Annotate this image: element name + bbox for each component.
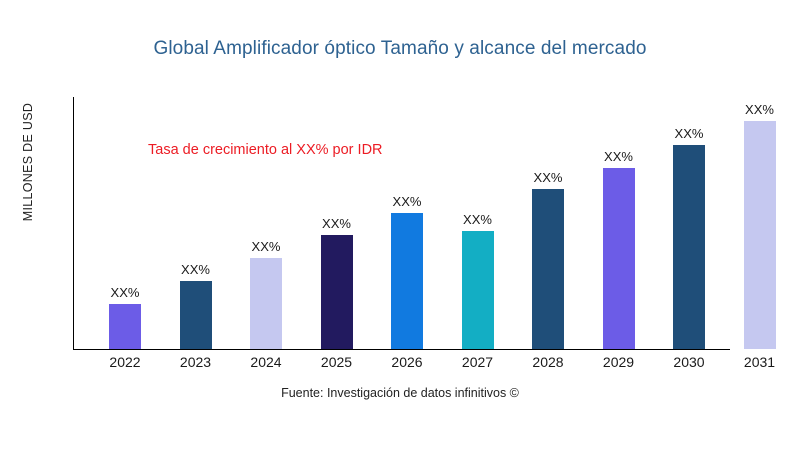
source-note: Fuente: Investigación de datos infinitiv… — [0, 386, 800, 400]
bar-2029[interactable]: XX% — [603, 168, 635, 349]
bar-rect-2025[interactable] — [321, 235, 353, 349]
bar-2024[interactable]: XX% — [250, 258, 282, 349]
x-tick-label-2028: 2028 — [508, 354, 588, 370]
x-tick-label-2024: 2024 — [226, 354, 306, 370]
bar-2027[interactable]: XX% — [462, 231, 494, 349]
bar-rect-2026[interactable] — [391, 213, 423, 349]
y-axis-line — [73, 97, 74, 350]
x-tick-label-2023: 2023 — [156, 354, 236, 370]
bar-2026[interactable]: XX% — [391, 213, 423, 349]
bar-2025[interactable]: XX% — [321, 235, 353, 349]
bar-2023[interactable]: XX% — [180, 281, 212, 349]
bar-value-label-2028: XX% — [518, 170, 578, 185]
x-tick-label-2025: 2025 — [297, 354, 377, 370]
chart-container: Global Amplificador óptico Tamaño y alca… — [0, 0, 800, 450]
bar-rect-2029[interactable] — [603, 168, 635, 349]
bar-rect-2030[interactable] — [673, 145, 705, 349]
bar-2022[interactable]: XX% — [109, 304, 141, 349]
plot-area: XX%XX%XX%XX%XX%XX%XX%XX%XX%XX% 202220232… — [0, 0, 800, 450]
bar-2030[interactable]: XX% — [673, 145, 705, 349]
bar-value-label-2027: XX% — [448, 212, 508, 227]
x-tick-label-2029: 2029 — [579, 354, 659, 370]
bar-value-label-2026: XX% — [377, 194, 437, 209]
bar-rect-2024[interactable] — [250, 258, 282, 349]
bar-value-label-2029: XX% — [589, 149, 649, 164]
bar-rect-2022[interactable] — [109, 304, 141, 349]
x-tick-label-2026: 2026 — [367, 354, 447, 370]
bar-value-label-2023: XX% — [166, 262, 226, 277]
bar-rect-2023[interactable] — [180, 281, 212, 349]
x-axis-line — [73, 349, 730, 350]
x-tick-label-2031: 2031 — [720, 354, 800, 370]
growth-rate-annotation: Tasa de crecimiento al XX% por IDR — [148, 142, 383, 158]
bar-rect-2028[interactable] — [532, 189, 564, 349]
bar-rect-2027[interactable] — [462, 231, 494, 349]
x-tick-label-2027: 2027 — [438, 354, 518, 370]
bar-2031[interactable]: XX% — [744, 121, 776, 349]
bar-rect-2031[interactable] — [744, 121, 776, 349]
bar-value-label-2024: XX% — [236, 239, 296, 254]
bar-value-label-2030: XX% — [659, 126, 719, 141]
x-tick-label-2030: 2030 — [649, 354, 729, 370]
bar-value-label-2031: XX% — [730, 102, 790, 117]
x-tick-label-2022: 2022 — [85, 354, 165, 370]
bar-value-label-2022: XX% — [95, 285, 155, 300]
bar-value-label-2025: XX% — [307, 216, 367, 231]
bar-2028[interactable]: XX% — [532, 189, 564, 349]
